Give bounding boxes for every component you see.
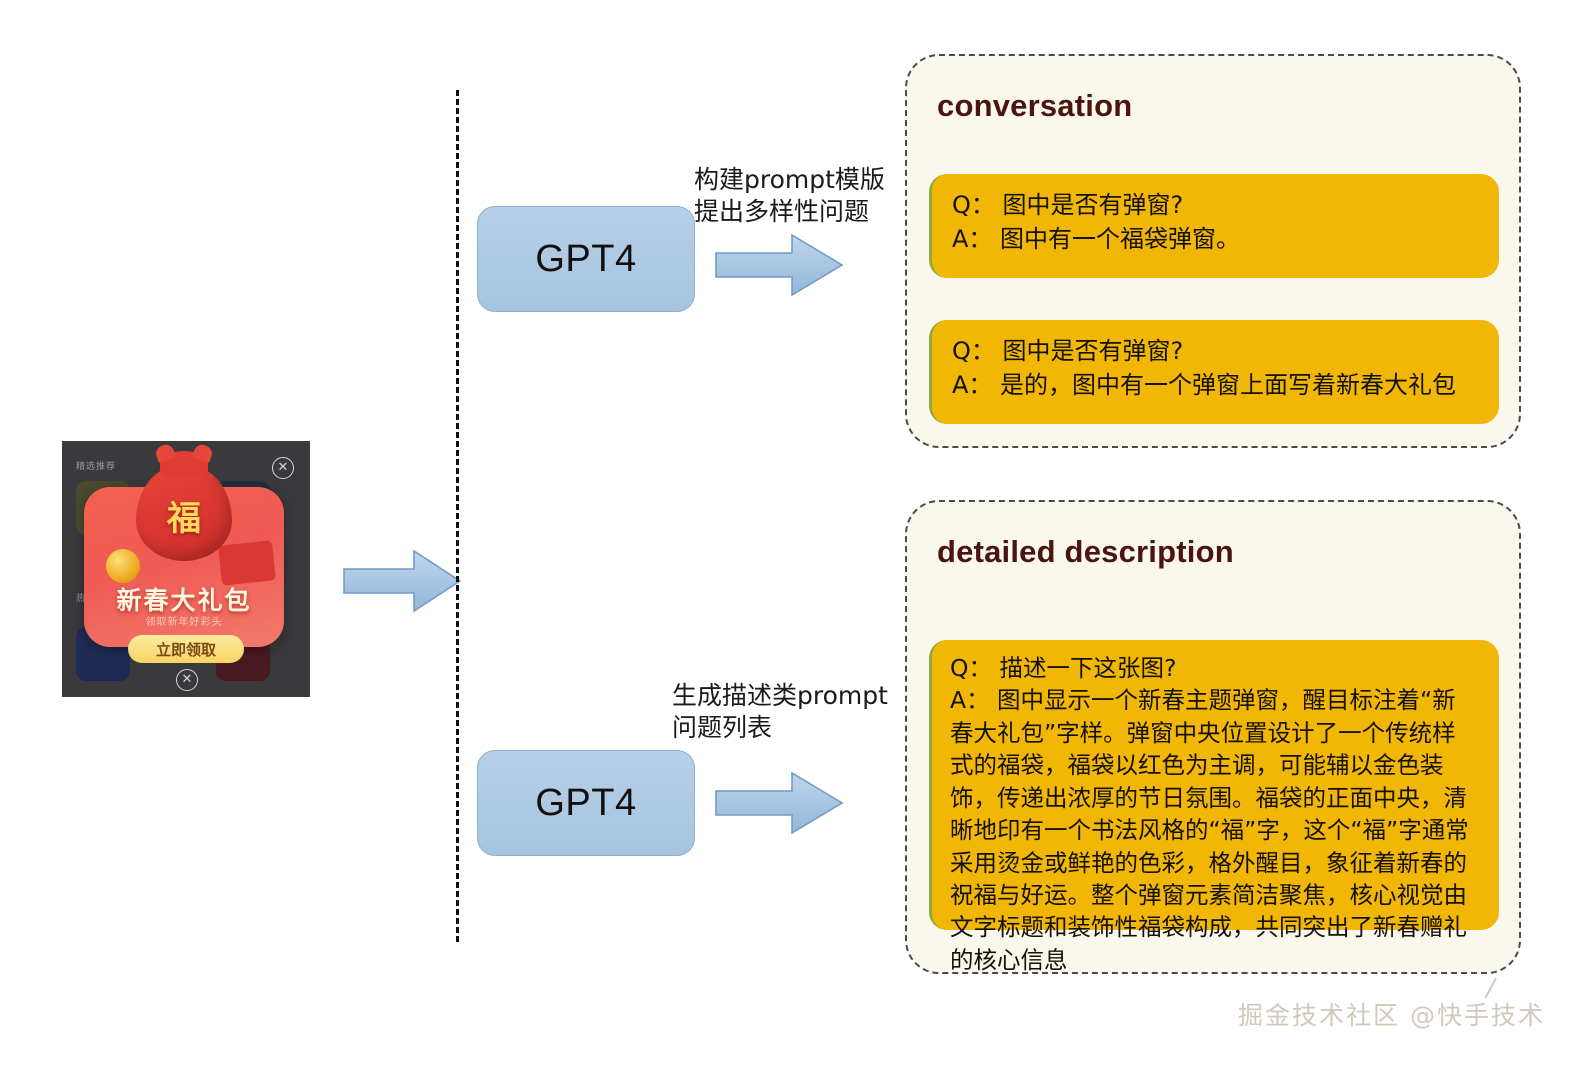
red-envelope-icon bbox=[218, 540, 276, 585]
conversation-panel: conversation Q： 图中是否有弹窗? A： 图中有一个福袋弹窗。 Q… bbox=[905, 54, 1521, 448]
qa-question: Q： 图中是否有弹窗? bbox=[952, 334, 1481, 368]
source-image-thumbnail: 精选推荐 热门应用 ✕ ✕ 福 新春大礼包 领取新年好彩头 立即领取 bbox=[62, 441, 310, 697]
app-label-featured: 精选推荐 bbox=[76, 459, 116, 472]
claim-button[interactable]: 立即领取 bbox=[128, 635, 244, 663]
popup-title: 新春大礼包 bbox=[84, 581, 284, 617]
branch-arrow-description-icon bbox=[714, 770, 844, 836]
qa-question: Q： 描述一下这张图? bbox=[950, 652, 1485, 684]
bag-knot-icon bbox=[160, 451, 208, 477]
diagram-canvas: 精选推荐 热门应用 ✕ ✕ 福 新春大礼包 领取新年好彩头 立即领取 bbox=[0, 0, 1586, 1072]
gpt4-box-description: GPT4 bbox=[477, 750, 695, 856]
qa-answer-line: 晰地印有一个书法风格的“福”字，这个“福”字通常 bbox=[950, 814, 1485, 846]
gold-coin-icon bbox=[106, 549, 140, 583]
qa-answer-line: 祝福与好运。整个弹窗元素简洁聚焦，核心视觉由 bbox=[950, 879, 1485, 911]
fudai-popup: 福 新春大礼包 领取新年好彩头 bbox=[84, 487, 284, 647]
close-icon-top[interactable]: ✕ bbox=[272, 457, 294, 479]
description-panel: detailed description Q： 描述一下这张图? A： 图中显示… bbox=[905, 500, 1521, 974]
conversation-panel-title: conversation bbox=[937, 88, 1132, 124]
fu-character: 福 bbox=[136, 491, 232, 540]
qa-question: Q： 图中是否有弹窗? bbox=[952, 188, 1481, 222]
input-arrow-icon bbox=[342, 548, 462, 614]
qa-answer-line: 的核心信息 bbox=[950, 944, 1485, 976]
qa-answer-line: 文字标题和装饰性福袋构成，共同突出了新春赠礼 bbox=[950, 911, 1485, 943]
popup-subtitle: 领取新年好彩头 bbox=[84, 613, 284, 628]
qa-answer-line: 春大礼包”字样。弹窗中央位置设计了一个传统样 bbox=[950, 717, 1485, 749]
qa-answer: A： 是的，图中有一个弹窗上面写着新春大礼包 bbox=[952, 368, 1481, 402]
arrow-label-description: 生成描述类prompt 问题列表 bbox=[672, 680, 888, 744]
description-panel-title: detailed description bbox=[937, 534, 1234, 570]
qa-answer-line: 饰，传递出浓厚的节日氛围。福袋的正面中央，清 bbox=[950, 782, 1485, 814]
qa-answer: A： 图中有一个福袋弹窗。 bbox=[952, 222, 1481, 256]
conversation-qa-item-1: Q： 图中是否有弹窗? A： 图中有一个福袋弹窗。 bbox=[929, 174, 1499, 278]
qa-answer-line: A： 图中显示一个新春主题弹窗，醒目标注着“新 bbox=[950, 684, 1485, 716]
close-icon-bottom[interactable]: ✕ bbox=[176, 669, 198, 691]
arrow-label-conversation: 构建prompt模版 提出多样性问题 bbox=[694, 164, 885, 228]
description-qa-item: Q： 描述一下这张图? A： 图中显示一个新春主题弹窗，醒目标注着“新 春大礼包… bbox=[929, 640, 1499, 930]
branch-arrow-conversation-icon bbox=[714, 232, 844, 298]
conversation-qa-item-2: Q： 图中是否有弹窗? A： 是的，图中有一个弹窗上面写着新春大礼包 bbox=[929, 320, 1499, 424]
qa-answer-line: 式的福袋，福袋以红色为主调，可能辅以金色装 bbox=[950, 749, 1485, 781]
dashed-divider bbox=[456, 90, 459, 942]
lucky-bag-icon: 福 bbox=[136, 465, 232, 561]
gpt4-box-conversation: GPT4 bbox=[477, 206, 695, 312]
qa-answer-line: 采用烫金或鲜艳的色彩，格外醒目，象征着新春的 bbox=[950, 847, 1485, 879]
